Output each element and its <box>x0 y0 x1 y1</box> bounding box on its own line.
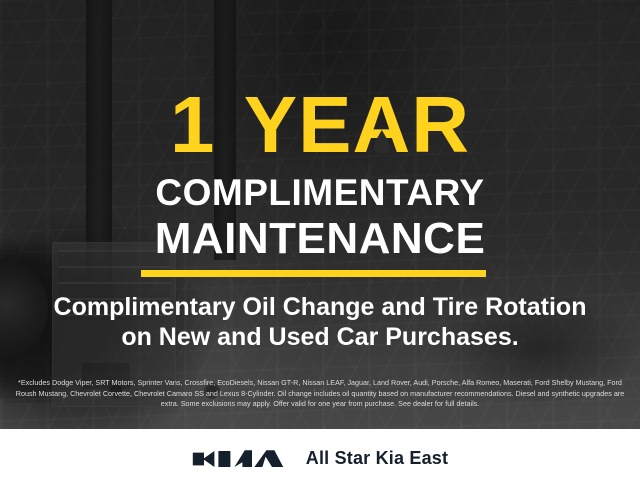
hero-image-area: 1 YEAR COMPLIMENTARY MAINTENANCE Complim… <box>0 0 640 429</box>
subhead-complimentary: COMPLIMENTARY <box>0 172 640 214</box>
offer-description-line-1: Complimentary Oil Change and Tire Rotati… <box>0 292 640 322</box>
yellow-divider-bar <box>141 270 486 277</box>
disclaimer-text: *Excludes Dodge Viper, SRT Motors, Sprin… <box>14 378 626 410</box>
headline-word-part-2: R <box>411 80 470 169</box>
kia-logo <box>192 446 284 472</box>
offer-description-line-2: on New and Used Car Purchases. <box>0 322 640 352</box>
footer-bar: All Star Kia East <box>0 429 640 488</box>
headline-letter-a: A <box>352 80 411 169</box>
headline-letter-a-with-oil-drop: A <box>352 82 411 168</box>
promo-copy-stack: 1 YEAR COMPLIMENTARY MAINTENANCE Complim… <box>0 0 640 429</box>
dealer-name: All Star Kia East <box>306 448 448 469</box>
headline-1-year: 1 YEAR <box>0 82 640 168</box>
promo-banner: 1 YEAR COMPLIMENTARY MAINTENANCE Complim… <box>0 0 640 488</box>
subhead-maintenance: MAINTENANCE <box>0 214 640 264</box>
headline-word-part-1: YE <box>244 80 353 169</box>
headline-number: 1 <box>170 80 221 169</box>
